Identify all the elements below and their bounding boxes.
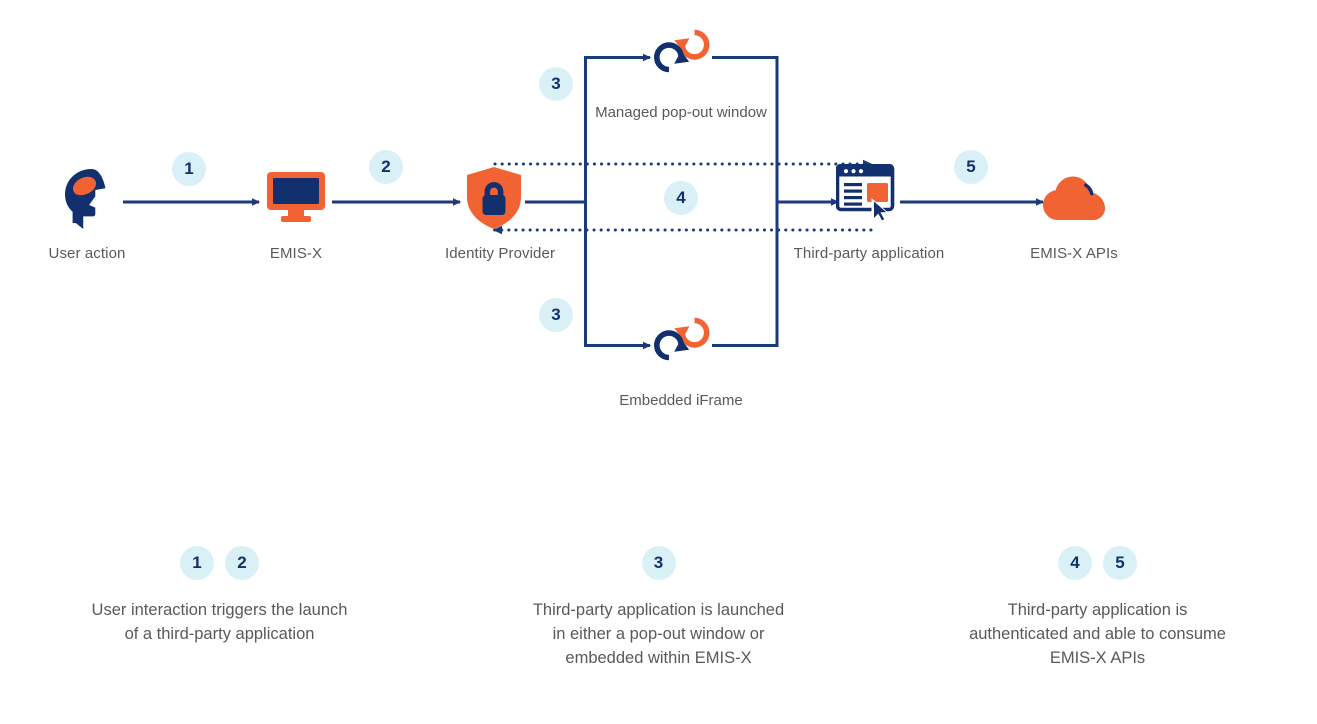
flow-badge-4: 4 (664, 181, 698, 215)
shield-lock-icon (465, 166, 523, 230)
node-label-user-action: User action (49, 244, 126, 263)
legend: 1 2 User interaction triggers the launch… (0, 540, 1317, 724)
flow-diagram: 1 2 3 4 3 5 User action EMIS-X Identity … (0, 0, 1317, 724)
legend-badges-launch: 1 2 (180, 540, 259, 586)
node-label-emis-x: EMIS-X (270, 244, 322, 263)
node-label-identity-provider: Identity Provider (445, 244, 555, 263)
legend-badge-1: 1 (180, 546, 214, 580)
legend-item-launch: 1 2 User interaction triggers the launch… (0, 540, 439, 724)
monitor-icon (265, 170, 327, 226)
flow-badge-1: 1 (172, 152, 206, 186)
flow-badge-2: 2 (369, 150, 403, 184)
browser-window-cursor-icon (836, 164, 900, 224)
legend-text-auth: Third-party application is authenticated… (964, 598, 1232, 670)
legend-item-render: 3 Third-party application is launched in… (439, 540, 878, 724)
flow-badge-3-iframe: 3 (539, 298, 573, 332)
legend-badge-5: 5 (1103, 546, 1137, 580)
legend-badge-3: 3 (642, 546, 676, 580)
legend-text-render: Third-party application is launched in e… (525, 598, 793, 670)
node-label-emis-x-apis: EMIS-X APIs (1030, 244, 1118, 263)
legend-badges-auth: 4 5 (1058, 540, 1137, 586)
branch-label-embedded-iframe: Embedded iFrame (581, 389, 781, 412)
cloud-icon (1041, 173, 1107, 223)
flow-badge-3-popout: 3 (539, 67, 573, 101)
legend-text-launch: User interaction triggers the launch of … (86, 598, 354, 646)
legend-badges-render: 3 (642, 540, 676, 586)
legend-badge-4: 4 (1058, 546, 1092, 580)
branch-label-managed-pop-out-window: Managed pop-out window (581, 101, 781, 124)
sync-arrows-icon-popout (650, 22, 712, 82)
sync-arrows-icon-iframe (650, 310, 712, 370)
legend-item-auth: 4 5 Third-party application is authentic… (878, 540, 1317, 724)
head-brain-icon (52, 163, 124, 235)
node-label-third-party-application: Third-party application (794, 244, 945, 263)
legend-badge-2: 2 (225, 546, 259, 580)
flow-badge-5: 5 (954, 150, 988, 184)
